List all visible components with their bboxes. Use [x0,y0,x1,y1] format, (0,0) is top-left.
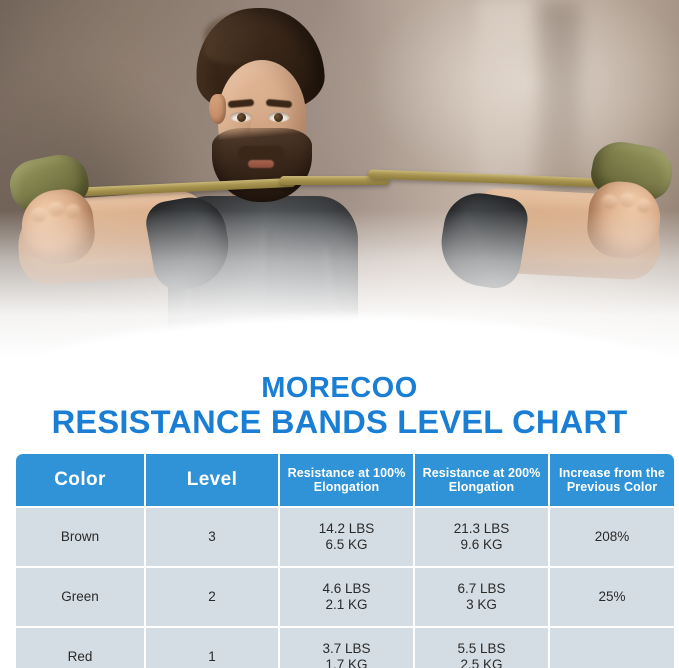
value-kg: 6.5 KG [283,537,410,553]
cell-level: 2 [146,568,278,626]
header-line-1: Increase from [559,466,642,480]
hero-photo [0,0,679,380]
header-line-1: Resistance at [288,466,370,480]
model-head [196,8,324,194]
cell-color: Brown [16,508,144,566]
value-lbs: 3.7 LBS [283,641,410,657]
cell-increase [550,628,674,668]
knuckle [601,194,618,209]
column-header-color: Color [16,454,144,506]
model-pupil-left [237,113,246,122]
column-header-increase: Increase from the Previous Color [550,454,674,506]
table-row: Green 2 4.6 LBS 2.1 KG 6.7 LBS 3 KG 25% [16,568,674,626]
chart-title: RESISTANCE BANDS LEVEL CHART [0,404,679,440]
cell-resistance-100: 3.7 LBS 1.7 KG [280,628,413,668]
value-kg: 3 KG [418,597,545,613]
table-header-row: Color Level Resistance at 100% Elongatio… [16,454,674,506]
knuckle [619,193,636,208]
value-kg: 2.5 KG [418,657,545,668]
value-lbs: 4.6 LBS [283,581,410,597]
table-row: Brown 3 14.2 LBS 6.5 KG 21.3 LBS 9.6 KG … [16,508,674,566]
cell-resistance-200: 21.3 LBS 9.6 KG [415,508,548,566]
cell-increase: 25% [550,568,674,626]
cell-increase: 208% [550,508,674,566]
value-lbs: 14.2 LBS [283,521,410,537]
brand-name: MORECOO [0,372,679,404]
cell-resistance-200: 5.5 LBS 2.5 KG [415,628,548,668]
cell-resistance-100: 14.2 LBS 6.5 KG [280,508,413,566]
value-lbs: 21.3 LBS [418,521,545,537]
value-kg: 2.1 KG [283,597,410,613]
column-header-level: Level [146,454,278,506]
model-ear [209,94,226,124]
cell-resistance-200: 6.7 LBS 3 KG [415,568,548,626]
cell-color: Red [16,628,144,668]
column-header-resistance-100: Resistance at 100% Elongation [280,454,413,506]
cell-resistance-100: 4.6 LBS 2.1 KG [280,568,413,626]
value-lbs: 5.5 LBS [418,641,545,657]
table-body: Brown 3 14.2 LBS 6.5 KG 21.3 LBS 9.6 KG … [16,508,674,668]
product-infographic-page: MORECOO RESISTANCE BANDS LEVEL CHART Col… [0,0,679,668]
table-row: Red 1 3.7 LBS 1.7 KG 5.5 LBS 2.5 KG [16,628,674,668]
value-kg: 9.6 KG [418,537,545,553]
model-lips [248,160,274,168]
column-header-resistance-200: Resistance at 200% Elongation [415,454,548,506]
header-line-1: Resistance at [423,466,505,480]
model-mustache [238,146,284,160]
chart-title-block: MORECOO RESISTANCE BANDS LEVEL CHART [0,372,679,440]
model-pupil-right [274,113,283,122]
cell-level: 1 [146,628,278,668]
cell-level: 3 [146,508,278,566]
value-lbs: 6.7 LBS [418,581,545,597]
resistance-level-table: Color Level Resistance at 100% Elongatio… [14,452,676,668]
cell-color: Green [16,568,144,626]
table-header: Color Level Resistance at 100% Elongatio… [16,454,674,506]
value-kg: 1.7 KG [283,657,410,668]
